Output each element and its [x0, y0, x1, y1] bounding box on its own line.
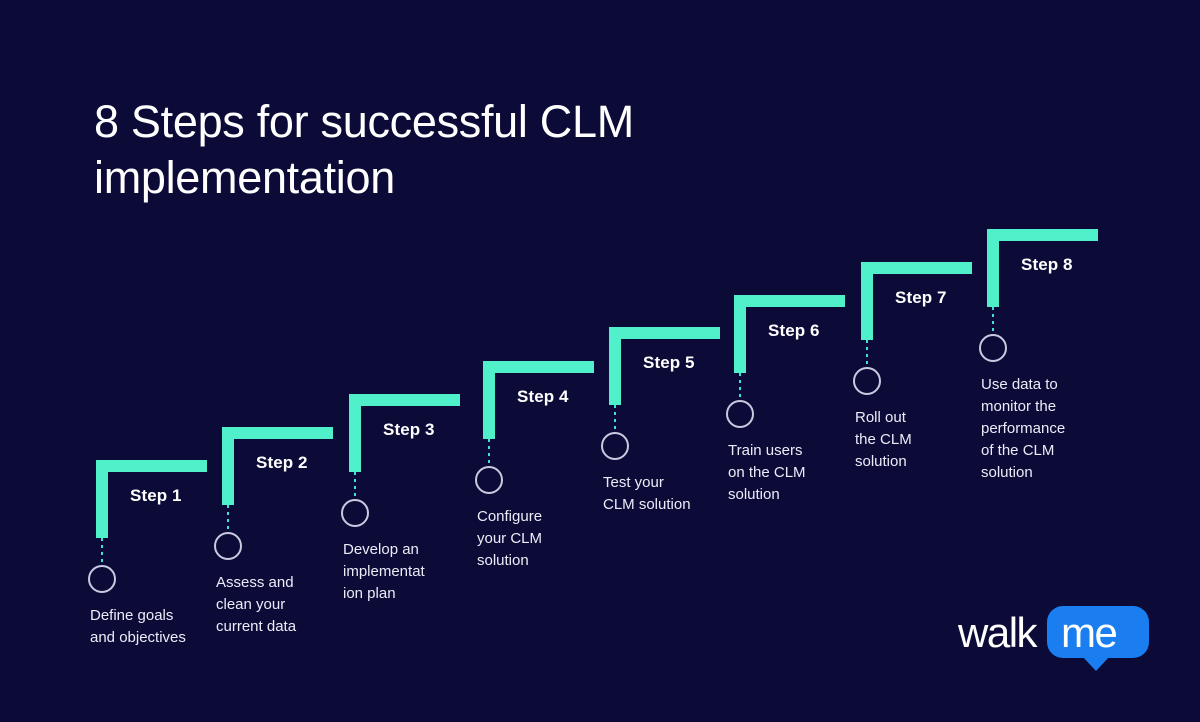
dotted-connector-line [488, 439, 490, 468]
dotted-connector-line [614, 405, 616, 434]
step-description: Test your CLM solution [603, 472, 723, 516]
step-label: Step 3 [383, 420, 435, 440]
bracket-horizontal-arm [96, 460, 207, 472]
walkme-logo: walk me [958, 606, 1148, 668]
bracket-horizontal-arm [734, 295, 845, 307]
dotted-connector-line [354, 472, 356, 501]
step-description: Assess and clean your current data [216, 572, 336, 638]
step-node-circle-icon [853, 367, 881, 395]
step-description: Configure your CLM solution [477, 506, 597, 572]
page-title: 8 Steps for successful CLM implementatio… [94, 94, 794, 206]
bracket-horizontal-arm [609, 327, 720, 339]
logo-wordmark-walk: walk [958, 612, 1036, 654]
step-node-circle-icon [214, 532, 242, 560]
step-description: Train users on the CLM solution [728, 440, 848, 506]
step-label: Step 1 [130, 486, 182, 506]
bracket-horizontal-arm [222, 427, 333, 439]
dotted-connector-line [101, 538, 103, 567]
dotted-connector-line [866, 340, 868, 369]
step-label: Step 5 [643, 353, 695, 373]
bracket-horizontal-arm [349, 394, 460, 406]
step-description: Roll out the CLM solution [855, 407, 975, 473]
step-node-circle-icon [341, 499, 369, 527]
bracket-horizontal-arm [861, 262, 972, 274]
bracket-horizontal-arm [483, 361, 594, 373]
step-node-circle-icon [726, 400, 754, 428]
bracket-horizontal-arm [987, 229, 1098, 241]
step-node-circle-icon [475, 466, 503, 494]
step-label: Step 8 [1021, 255, 1073, 275]
step-label: Step 7 [895, 288, 947, 308]
step-label: Step 6 [768, 321, 820, 341]
step-description: Use data to monitor the performance of t… [981, 374, 1101, 484]
infographic-canvas: 8 Steps for successful CLM implementatio… [0, 0, 1200, 722]
step-node-circle-icon [601, 432, 629, 460]
step-node-circle-icon [88, 565, 116, 593]
step-label: Step 4 [517, 387, 569, 407]
dotted-connector-line [739, 373, 741, 402]
dotted-connector-line [992, 307, 994, 336]
step-description: Define goals and objectives [90, 605, 210, 649]
dotted-connector-line [227, 505, 229, 534]
logo-wordmark-me: me [1061, 612, 1116, 654]
step-node-circle-icon [979, 334, 1007, 362]
step-description: Develop an implementat ion plan [343, 539, 463, 605]
step-label: Step 2 [256, 453, 308, 473]
